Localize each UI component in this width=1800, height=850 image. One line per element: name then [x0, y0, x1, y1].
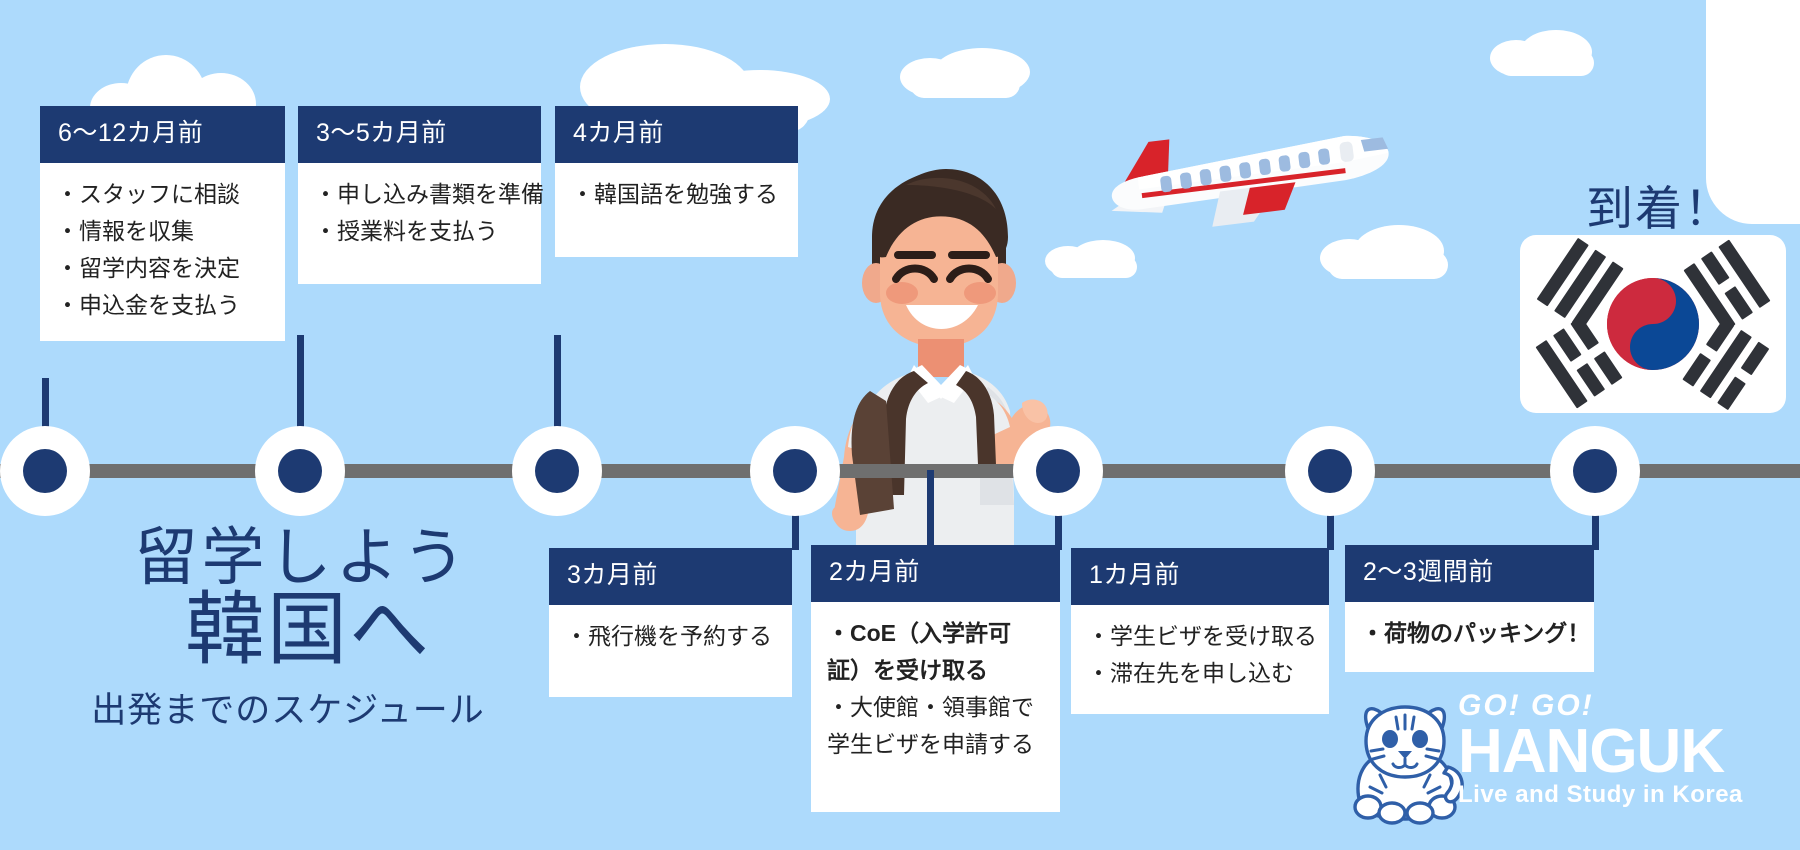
card-item: ・大使館・領事館で学生ビザを申請する [827, 689, 1044, 764]
logo-tagline: Live and Study in Korea [1458, 782, 1790, 808]
corner-accent [1706, 0, 1800, 224]
timeline-stem [927, 470, 934, 550]
milestone-card-4-months[interactable]: 4カ月前 ・韓国語を勉強する [555, 106, 798, 257]
timeline-node[interactable] [0, 426, 90, 516]
infographic-canvas: 6〜12カ月前 ・スタッフに相談 ・情報を収集 ・留学内容を決定 ・申込金を支払… [0, 0, 1800, 850]
card-title: 2カ月前 [811, 545, 1060, 602]
tiger-mascot-icon [1340, 699, 1472, 825]
card-item: ・留学内容を決定 [56, 250, 269, 287]
card-item: ・情報を収集 [56, 213, 269, 250]
card-body: ・飛行機を予約する [549, 605, 792, 697]
card-item: ・スタッフに相談 [56, 176, 269, 213]
card-item: ・学生ビザを受け取る [1087, 618, 1313, 655]
airplane-icon [1098, 118, 1398, 228]
headline-line-2: 韓国へ [28, 588, 548, 672]
card-item: ・CoE（入学許可証）を受け取る [827, 615, 1044, 690]
timeline-node[interactable] [1285, 426, 1375, 516]
milestone-card-3-5-months[interactable]: 3〜5カ月前 ・申し込み書類を準備 ・授業料を支払う [298, 106, 541, 284]
timeline-node[interactable] [1013, 426, 1103, 516]
milestone-card-1-month[interactable]: 1カ月前 ・学生ビザを受け取る ・滞在先を申し込む [1071, 548, 1329, 714]
milestone-card-3-months[interactable]: 3カ月前 ・飛行機を予約する [549, 548, 792, 697]
timeline-node[interactable] [255, 426, 345, 516]
timeline-node[interactable] [750, 426, 840, 516]
card-body: ・学生ビザを受け取る ・滞在先を申し込む [1071, 605, 1329, 715]
card-item: ・滞在先を申し込む [1087, 655, 1313, 692]
card-item: ・韓国語を勉強する [571, 176, 782, 213]
card-body: ・荷物のパッキング！ [1345, 602, 1594, 672]
card-title: 3カ月前 [549, 548, 792, 605]
card-item: ・荷物のパッキング！ [1361, 615, 1578, 652]
headline-line-1: 留学しよう [28, 527, 548, 590]
timeline-node[interactable] [512, 426, 602, 516]
card-item: ・飛行機を予約する [565, 618, 776, 655]
milestone-card-2-months[interactable]: 2カ月前 ・CoE（入学許可証）を受け取る ・大使館・領事館で学生ビザを申請する [811, 545, 1060, 812]
card-item: ・授業料を支払う [314, 213, 525, 250]
milestone-card-2-3-weeks[interactable]: 2〜3週間前 ・荷物のパッキング！ [1345, 545, 1594, 672]
card-title: 3〜5カ月前 [298, 106, 541, 163]
milestone-card-6-12-months[interactable]: 6〜12カ月前 ・スタッフに相談 ・情報を収集 ・留学内容を決定 ・申込金を支払… [40, 106, 285, 341]
card-body: ・申し込み書類を準備 ・授業料を支払う [298, 163, 541, 285]
card-title: 2〜3週間前 [1345, 545, 1594, 602]
brand-logo[interactable]: GO! GO! HANGUK Live and Study in Korea [1340, 685, 1790, 835]
card-body: ・韓国語を勉強する [555, 163, 798, 257]
card-item: ・申し込み書類を準備 [314, 176, 525, 213]
card-title: 1カ月前 [1071, 548, 1329, 605]
card-title: 4カ月前 [555, 106, 798, 163]
headline-subtitle: 出発までのスケジュール [28, 690, 548, 732]
card-body: ・スタッフに相談 ・情報を収集 ・留学内容を決定 ・申込金を支払う [40, 163, 285, 341]
card-item: ・申込金を支払う [56, 287, 269, 324]
timeline-node[interactable] [1550, 426, 1640, 516]
page-title: 留学しよう 韓国へ 出発までのスケジュール [28, 527, 548, 732]
logo-hanguk: HANGUK [1458, 723, 1790, 780]
south-korea-flag-icon [1520, 235, 1786, 413]
card-body: ・CoE（入学許可証）を受け取る ・大使館・領事館で学生ビザを申請する [811, 602, 1060, 812]
card-title: 6〜12カ月前 [40, 106, 285, 163]
